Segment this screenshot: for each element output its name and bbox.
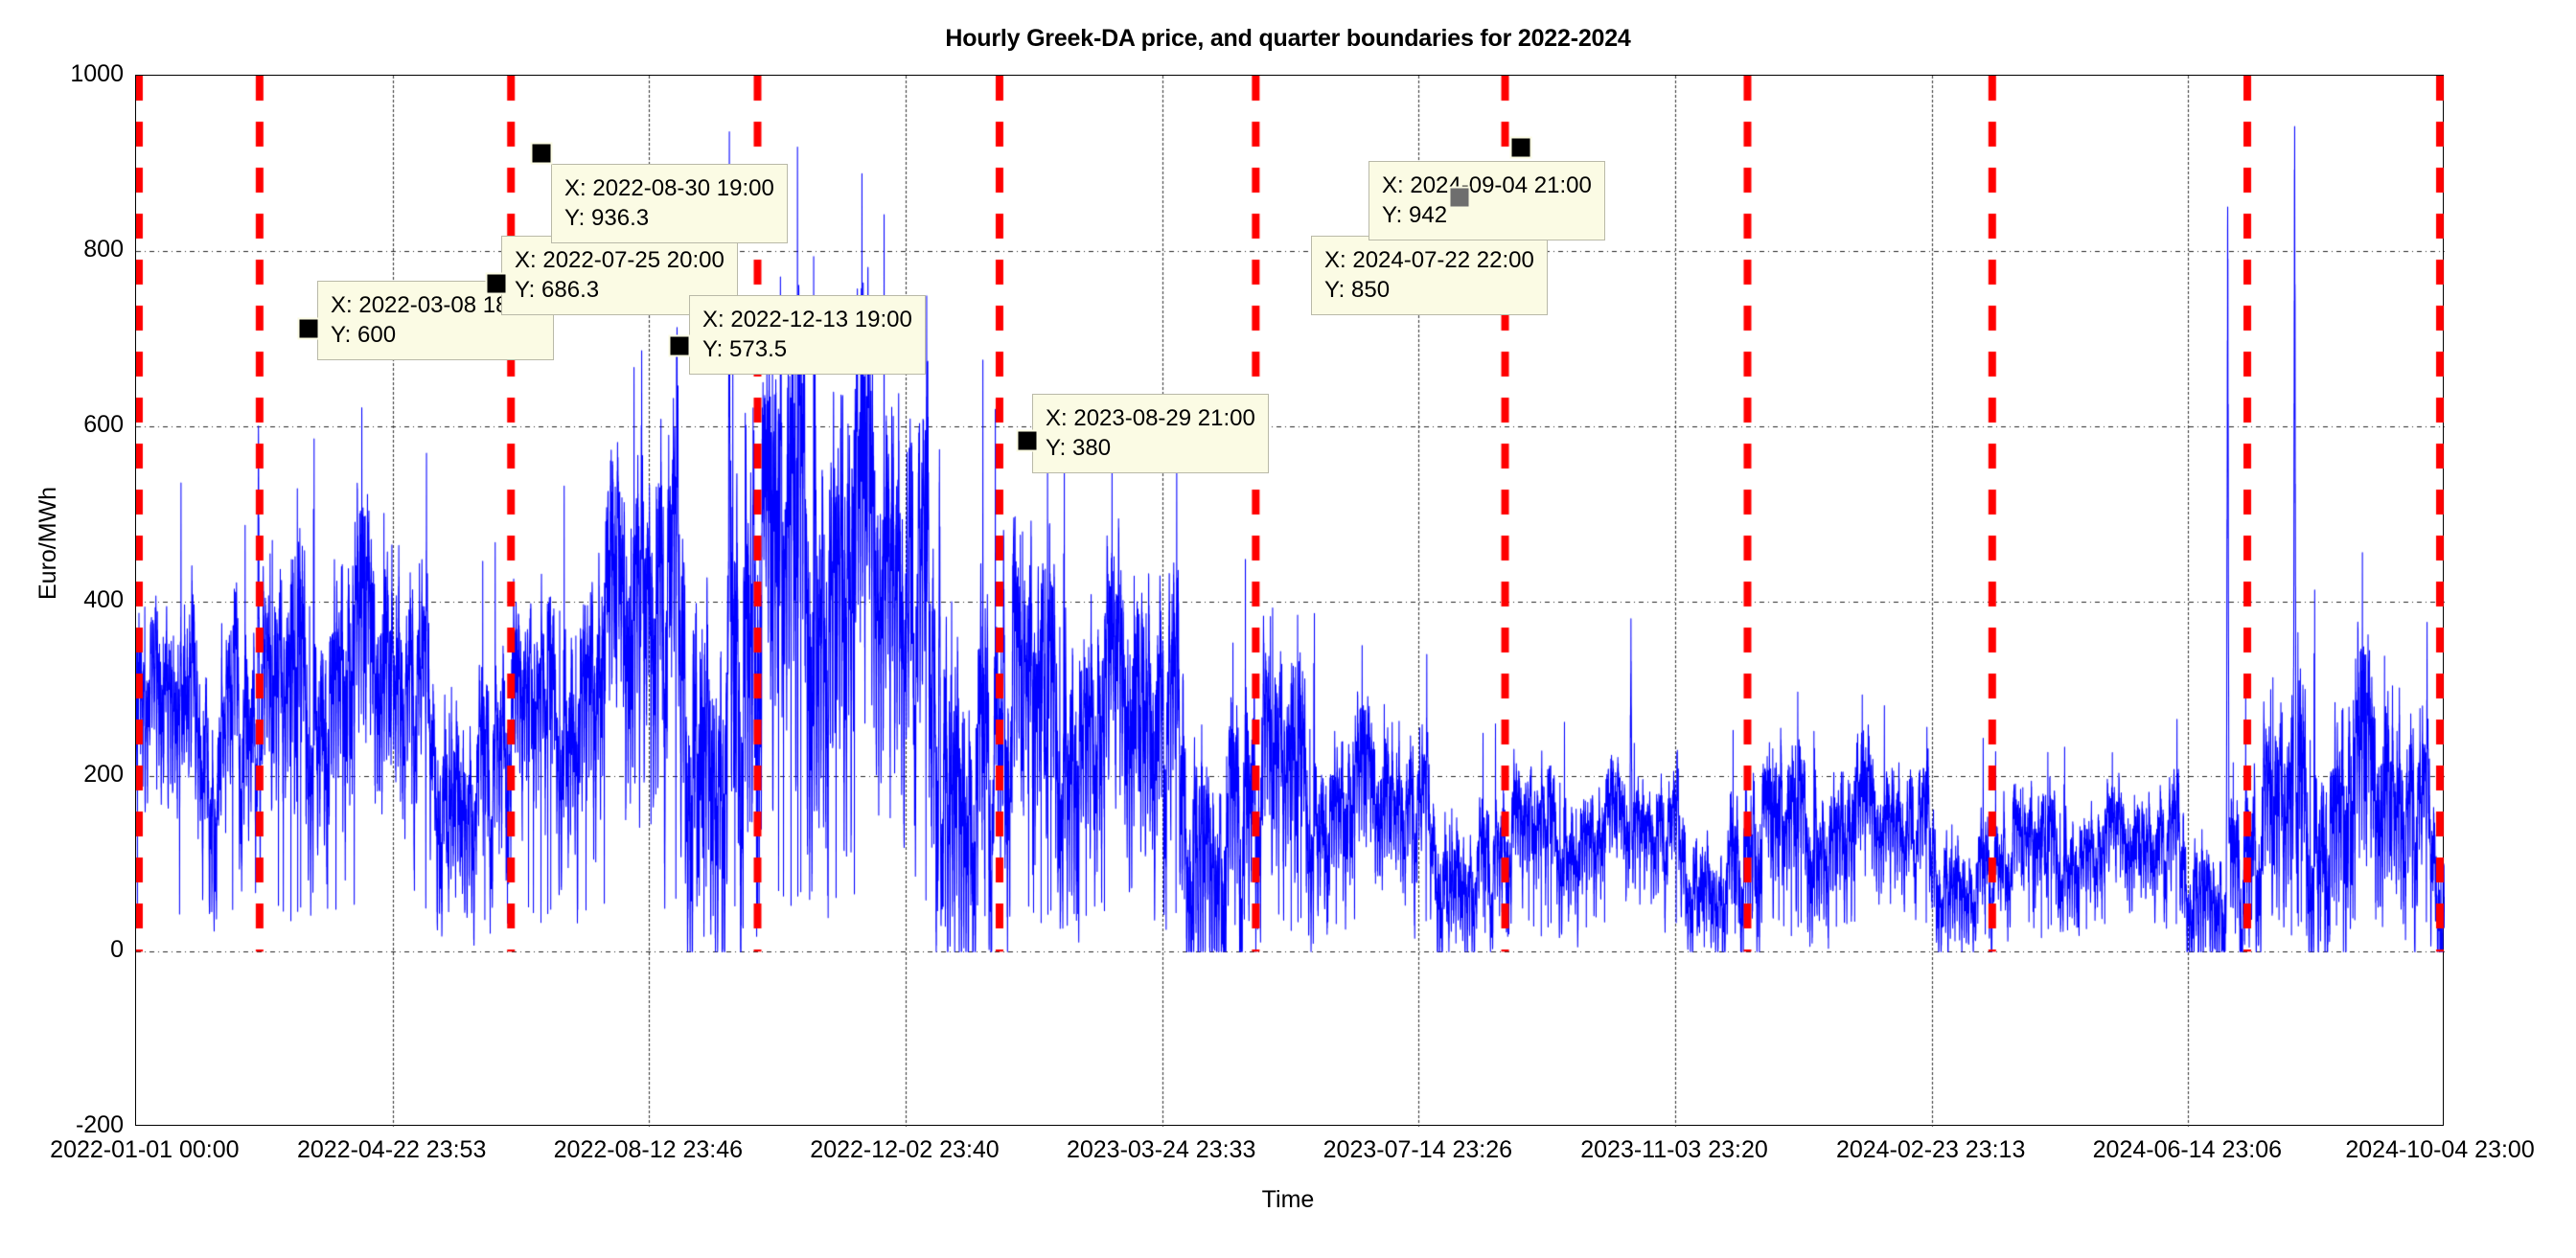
data-tip-marker[interactable] xyxy=(298,318,320,340)
data-tip[interactable]: X: 2022-08-30 19:00Y: 936.3 xyxy=(551,164,788,243)
x-tick-label: 2024-02-23 23:13 xyxy=(1836,1136,2025,1164)
x-tick-label: 2023-11-03 23:20 xyxy=(1580,1136,1768,1164)
x-tick-label: 2023-07-14 23:26 xyxy=(1323,1136,1512,1164)
data-tip-y: Y: 936.3 xyxy=(564,203,774,233)
data-tip-marker[interactable] xyxy=(1449,187,1471,209)
data-tip-x: X: 2022-07-25 20:00 xyxy=(515,245,724,275)
x-tick-label: 2022-01-01 00:00 xyxy=(50,1136,239,1164)
y-tick-label: 400 xyxy=(0,586,124,614)
x-tick-label: 2022-12-02 23:40 xyxy=(810,1136,999,1164)
y-tick-label: 200 xyxy=(0,761,124,789)
y-tick-label: -200 xyxy=(0,1111,124,1139)
chart-page: Hourly Greek-DA price, and quarter bound… xyxy=(0,0,2576,1258)
data-tip-marker[interactable] xyxy=(1510,137,1532,159)
y-tick-label: 600 xyxy=(0,411,124,439)
y-tick-label: 1000 xyxy=(0,60,124,88)
data-tip-x: X: 2022-12-13 19:00 xyxy=(702,305,912,334)
data-tip-y: Y: 850 xyxy=(1324,275,1534,305)
plot-area xyxy=(135,75,2444,1126)
data-tip-x: X: 2022-08-30 19:00 xyxy=(564,173,774,203)
data-tip-marker[interactable] xyxy=(486,273,508,295)
x-axis-label: Time xyxy=(0,1186,2576,1214)
series-canvas xyxy=(136,76,2445,1127)
data-tip-y: Y: 600 xyxy=(331,320,540,350)
data-tip-x: X: 2023-08-29 21:00 xyxy=(1046,403,1255,433)
data-tip-marker[interactable] xyxy=(669,335,691,357)
data-tip-x: X: 2024-09-04 21:00 xyxy=(1382,171,1592,200)
x-tick-label: 2022-04-22 23:53 xyxy=(297,1136,486,1164)
data-tip-y: Y: 380 xyxy=(1046,433,1255,463)
data-tip[interactable]: X: 2024-09-04 21:00Y: 942 xyxy=(1368,161,1605,240)
data-tip[interactable]: X: 2023-08-29 21:00Y: 380 xyxy=(1032,394,1269,473)
data-tip-y: Y: 573.5 xyxy=(702,334,912,364)
x-tick-label: 2023-03-24 23:33 xyxy=(1067,1136,1255,1164)
data-tip[interactable]: X: 2022-12-13 19:00Y: 573.5 xyxy=(689,295,926,375)
data-tip-marker[interactable] xyxy=(1017,430,1039,452)
data-tip-y: Y: 942 xyxy=(1382,200,1592,230)
data-tip-marker[interactable] xyxy=(531,143,553,165)
data-tip-x: X: 2024-07-22 22:00 xyxy=(1324,245,1534,275)
chart-title: Hourly Greek-DA price, and quarter bound… xyxy=(0,25,2576,53)
data-tip[interactable]: X: 2024-07-22 22:00Y: 850 xyxy=(1311,236,1548,315)
y-tick-label: 800 xyxy=(0,236,124,263)
y-tick-label: 0 xyxy=(0,936,124,964)
x-tick-label: 2022-08-12 23:46 xyxy=(554,1136,743,1164)
x-tick-label: 2024-06-14 23:06 xyxy=(2093,1136,2282,1164)
x-tick-label: 2024-10-04 23:00 xyxy=(2345,1136,2534,1164)
